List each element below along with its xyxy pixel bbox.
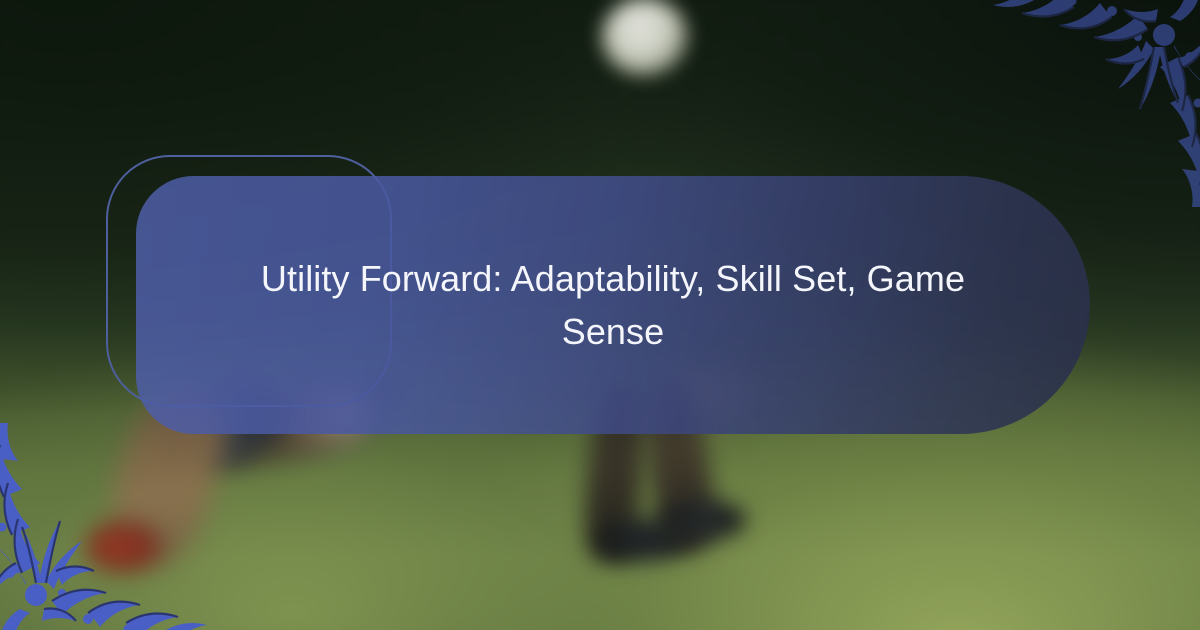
card-title: Utility Forward: Adaptability, Skill Set… — [232, 252, 994, 359]
social-card-canvas: Utility Forward: Adaptability, Skill Set… — [0, 0, 1200, 630]
title-card: Utility Forward: Adaptability, Skill Set… — [136, 176, 1090, 434]
